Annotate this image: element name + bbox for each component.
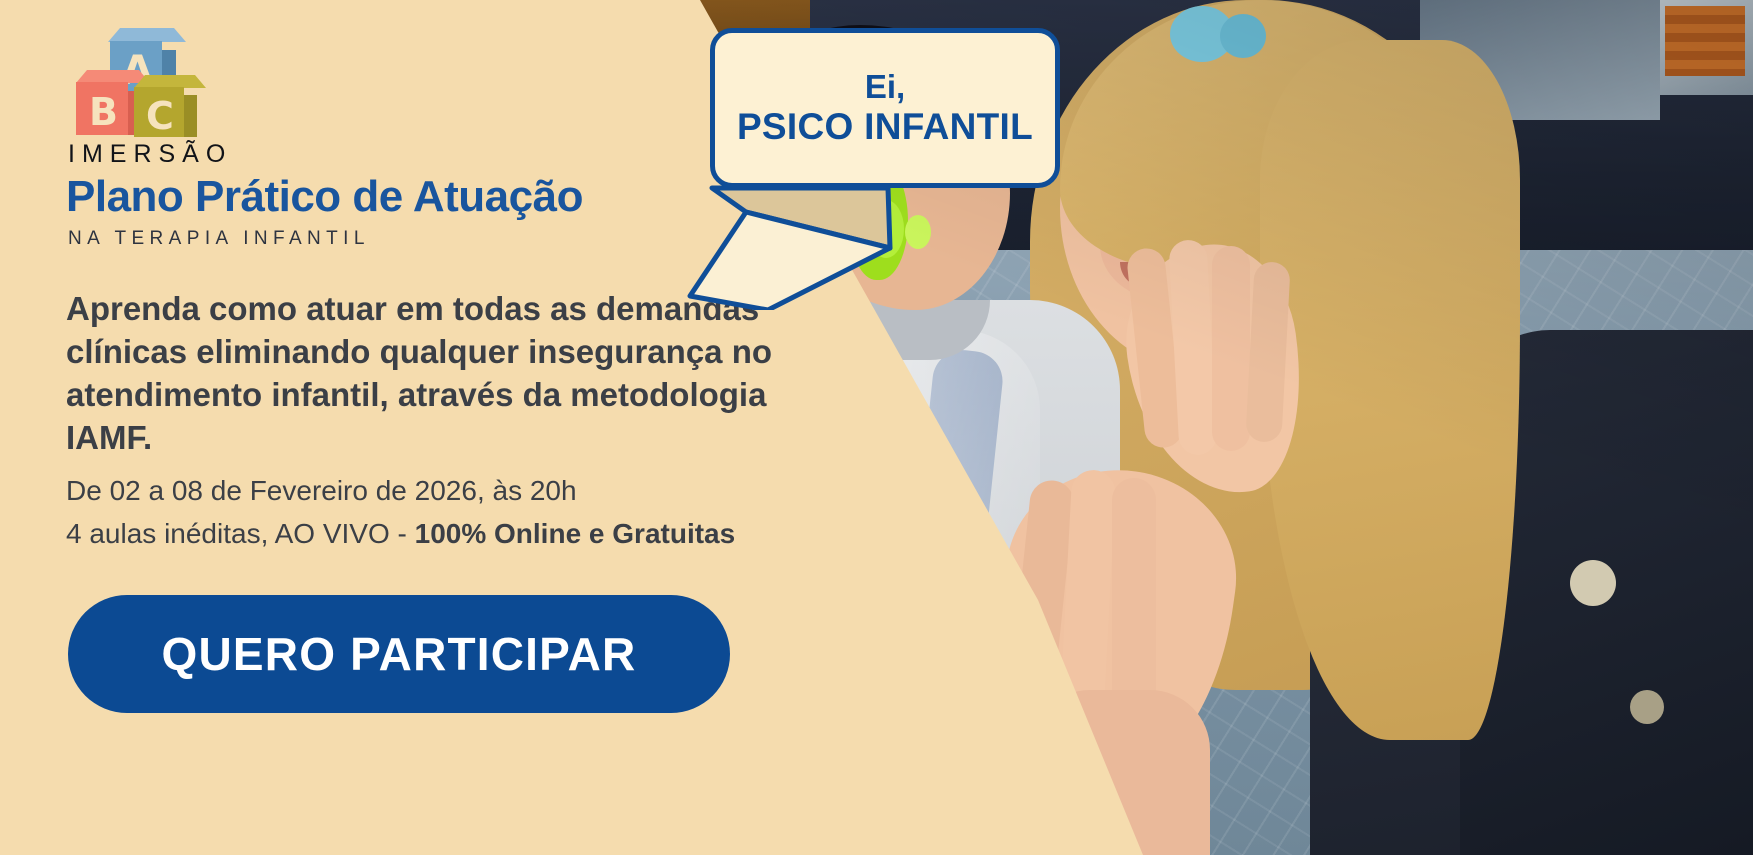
abc-blocks-logo: A B C: [68, 28, 186, 136]
event-format-highlight: 100% Online e Gratuitas: [415, 518, 736, 549]
bubble-line-1: Ei,: [865, 69, 905, 106]
event-format-prefix: 4 aulas inéditas, AO VIVO -: [66, 518, 415, 549]
subkicker-terapia-infantil: NA TERAPIA INFANTIL: [68, 228, 370, 250]
block-c-side: [184, 95, 197, 137]
speech-bubble: Ei, PSICO INFANTIL: [628, 20, 1068, 290]
promo-banner: A B C IMERSÃO Plano Prático de Atuação N…: [0, 0, 1753, 855]
event-details: De 02 a 08 de Fevereiro de 2026, às 20h …: [66, 470, 926, 555]
event-format-line: 4 aulas inéditas, AO VIVO - 100% Online …: [66, 513, 926, 556]
page-title: Plano Prático de Atuação: [66, 172, 583, 222]
speech-bubble-tail: [628, 170, 1068, 310]
block-a-top: [108, 28, 186, 42]
event-date-line: De 02 a 08 de Fevereiro de 2026, às 20h: [66, 470, 926, 513]
block-b-letter: B: [89, 90, 118, 134]
content-column: A B C IMERSÃO Plano Prático de Atuação N…: [0, 0, 700, 855]
lead-paragraph: Aprenda como atuar em todas as demandas …: [66, 288, 806, 460]
bubble-line-2: PSICO INFANTIL: [737, 106, 1033, 147]
block-c-letter: C: [146, 94, 174, 138]
speech-bubble-box: Ei, PSICO INFANTIL: [710, 28, 1060, 188]
quero-participar-button[interactable]: QUERO PARTICIPAR: [68, 595, 730, 713]
kicker-imersao: IMERSÃO: [68, 140, 232, 169]
